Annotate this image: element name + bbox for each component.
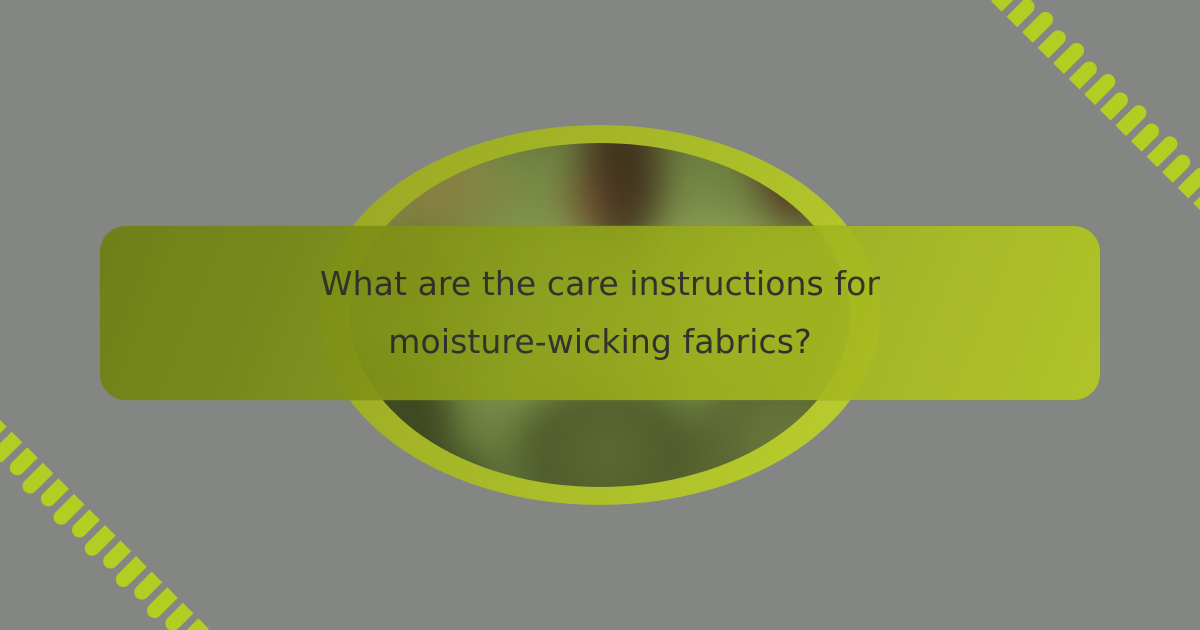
question-line-2: moisture-wicking fabrics?: [388, 314, 811, 370]
question-card: What are the care instructions for moist…: [100, 226, 1100, 400]
question-line-1: What are the care instructions for: [320, 256, 880, 312]
screenshot-canvas: What are the care instructions for moist…: [0, 0, 1200, 630]
question-card-content: What are the care instructions for moist…: [100, 226, 1100, 400]
